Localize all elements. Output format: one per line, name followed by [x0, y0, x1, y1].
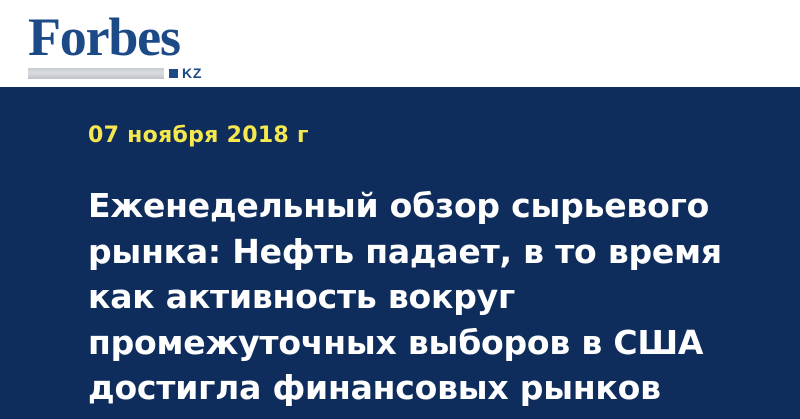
logo-square-icon: [169, 69, 178, 78]
title-line: Еженедельный обзор сырьевого: [88, 183, 768, 229]
site-header: Forbes KZ: [0, 0, 800, 87]
title-line: промежуточных выборов в США: [88, 320, 768, 366]
article-title[interactable]: Еженедельный обзор сырьевого рынка: Нефт…: [88, 183, 768, 411]
forbes-wordmark: Forbes: [28, 8, 180, 66]
article-banner: 07 ноября 2018 г Еженедельный обзор сырь…: [0, 87, 800, 419]
forbes-kz-logo[interactable]: Forbes KZ: [28, 8, 228, 80]
article-header-card: Forbes KZ 07 ноября 2018 г Еженедельный …: [0, 0, 800, 419]
logo-kz-label: KZ: [182, 66, 202, 81]
title-line: как активность вокруг: [88, 274, 768, 320]
publication-date: 07 ноября 2018 г: [88, 123, 309, 149]
logo-rule-bar: [28, 68, 164, 79]
title-line: достигла финансовых рынков: [88, 365, 768, 411]
title-line: рынка: Нефть падает, в то время: [88, 229, 768, 275]
